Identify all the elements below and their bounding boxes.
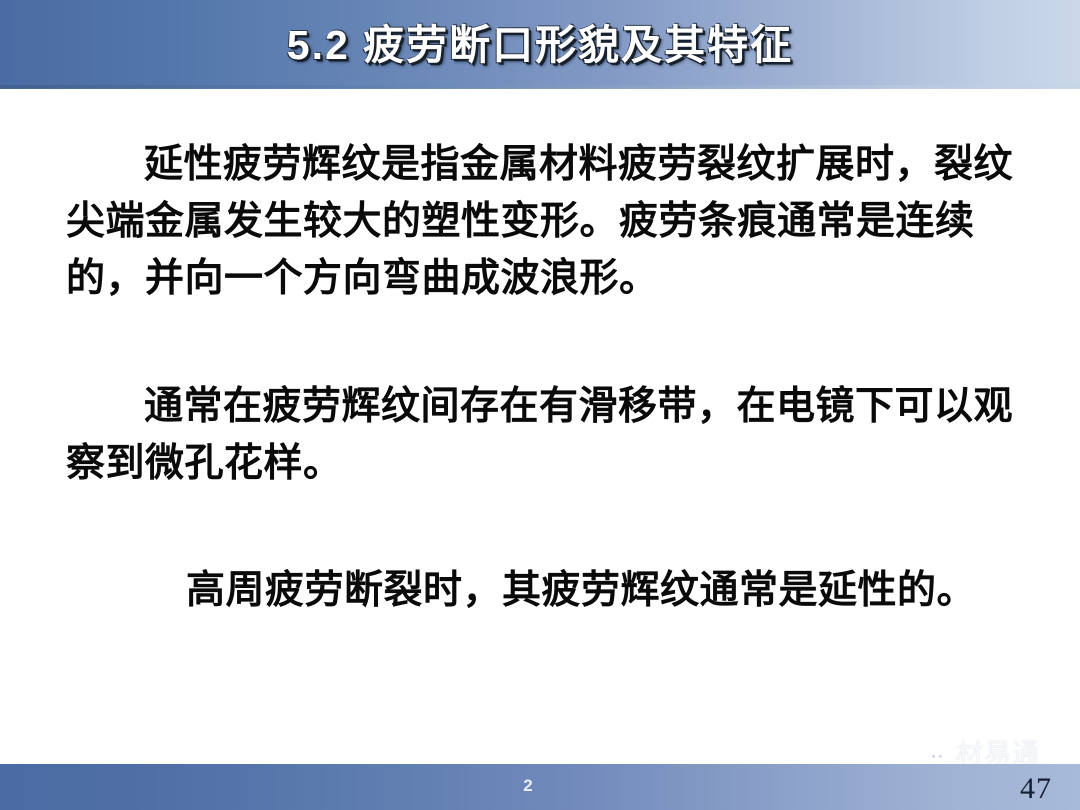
page-title: 5.2 疲劳断口形貌及其特征 bbox=[0, 22, 1080, 68]
slide: 5.2 疲劳断口形貌及其特征 延性疲劳辉纹是指金属材料疲劳裂纹扩展时，裂纹尖端金… bbox=[0, 0, 1080, 810]
slide-number: 2 bbox=[498, 776, 558, 796]
paragraph-1: 延性疲劳辉纹是指金属材料疲劳裂纹扩展时，裂纹尖端金属发生较大的塑性变形。疲劳条痕… bbox=[66, 136, 1018, 307]
paragraph-2: 通常在疲劳辉纹间存在有滑移带，在电镜下可以观察到微孔花样。 bbox=[66, 378, 1018, 492]
page-number: 47 bbox=[1008, 772, 1064, 806]
body-content: 延性疲劳辉纹是指金属材料疲劳裂纹扩展时，裂纹尖端金属发生较大的塑性变形。疲劳条痕… bbox=[0, 88, 1080, 764]
paragraph-3: 高周疲劳断裂时，其疲劳辉纹通常是延性的。 bbox=[66, 562, 1018, 619]
